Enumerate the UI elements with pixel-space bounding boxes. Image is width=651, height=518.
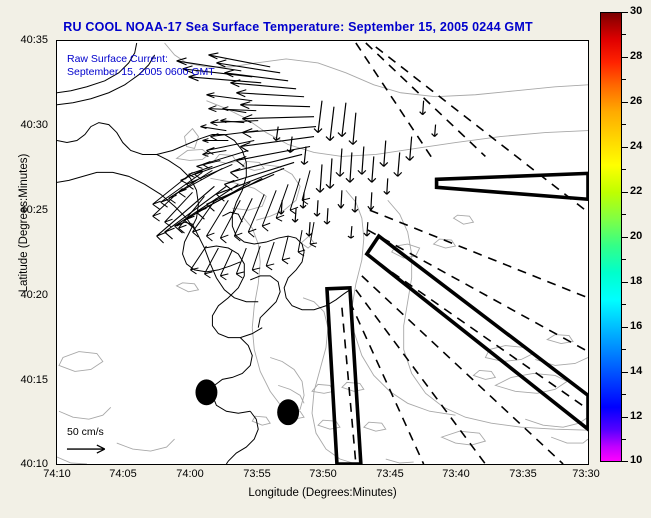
y-tick-4: 40:15 [0, 374, 48, 386]
x-axis-labels: 74:10 74:05 74:00 73:55 73:50 73:45 73:4… [0, 468, 651, 488]
figure-canvas: RU COOL NOAA-17 Sea Surface Temperature:… [0, 0, 651, 518]
y-tick-0: 40:35 [0, 34, 48, 46]
colorbar-tick-10: 10 [630, 454, 642, 466]
x-tick-4: 73:50 [309, 468, 337, 480]
x-tick-6: 73:40 [442, 468, 470, 480]
station-markers [195, 379, 299, 425]
y-axis-title: Latitude (Degrees:Minutes) [18, 113, 30, 333]
surface-current-vectors [153, 53, 438, 280]
map-plot-area[interactable]: Raw Surface Current: September 15, 2005 … [56, 40, 589, 465]
colorbar-tick-8: 14 [630, 365, 642, 377]
x-tick-1: 74:05 [109, 468, 137, 480]
x-tick-7: 73:35 [509, 468, 537, 480]
colorbar-tick-6: 18 [630, 275, 642, 287]
colorbar-tick-7: 16 [630, 320, 642, 332]
figure-title: RU COOL NOAA-17 Sea Surface Temperature:… [0, 20, 596, 34]
colorbar-tick-3: 24 [630, 140, 642, 152]
bathymetry-contours [57, 43, 588, 464]
colorbar-tick-1: 28 [630, 50, 642, 62]
colorbar-tick-4: 22 [630, 185, 642, 197]
scale-arrow [67, 445, 105, 453]
x-tick-0: 74:10 [43, 468, 71, 480]
x-tick-5: 73:45 [376, 468, 404, 480]
colorbar-tick-2: 26 [630, 95, 642, 107]
x-tick-3: 73:55 [243, 468, 271, 480]
x-axis-title: Longitude (Degrees:Minutes) [56, 487, 589, 499]
x-tick-8: 73:30 [572, 468, 600, 480]
colorbar-tick-0: 30 [630, 5, 642, 17]
colorbar-tick-9: 12 [630, 410, 642, 422]
colorbar[interactable] [600, 12, 622, 462]
colorbar-tick-5: 20 [630, 230, 642, 242]
map-graphics [57, 41, 588, 464]
scale-label: 50 cm/s [67, 426, 104, 438]
x-tick-2: 74:00 [176, 468, 204, 480]
